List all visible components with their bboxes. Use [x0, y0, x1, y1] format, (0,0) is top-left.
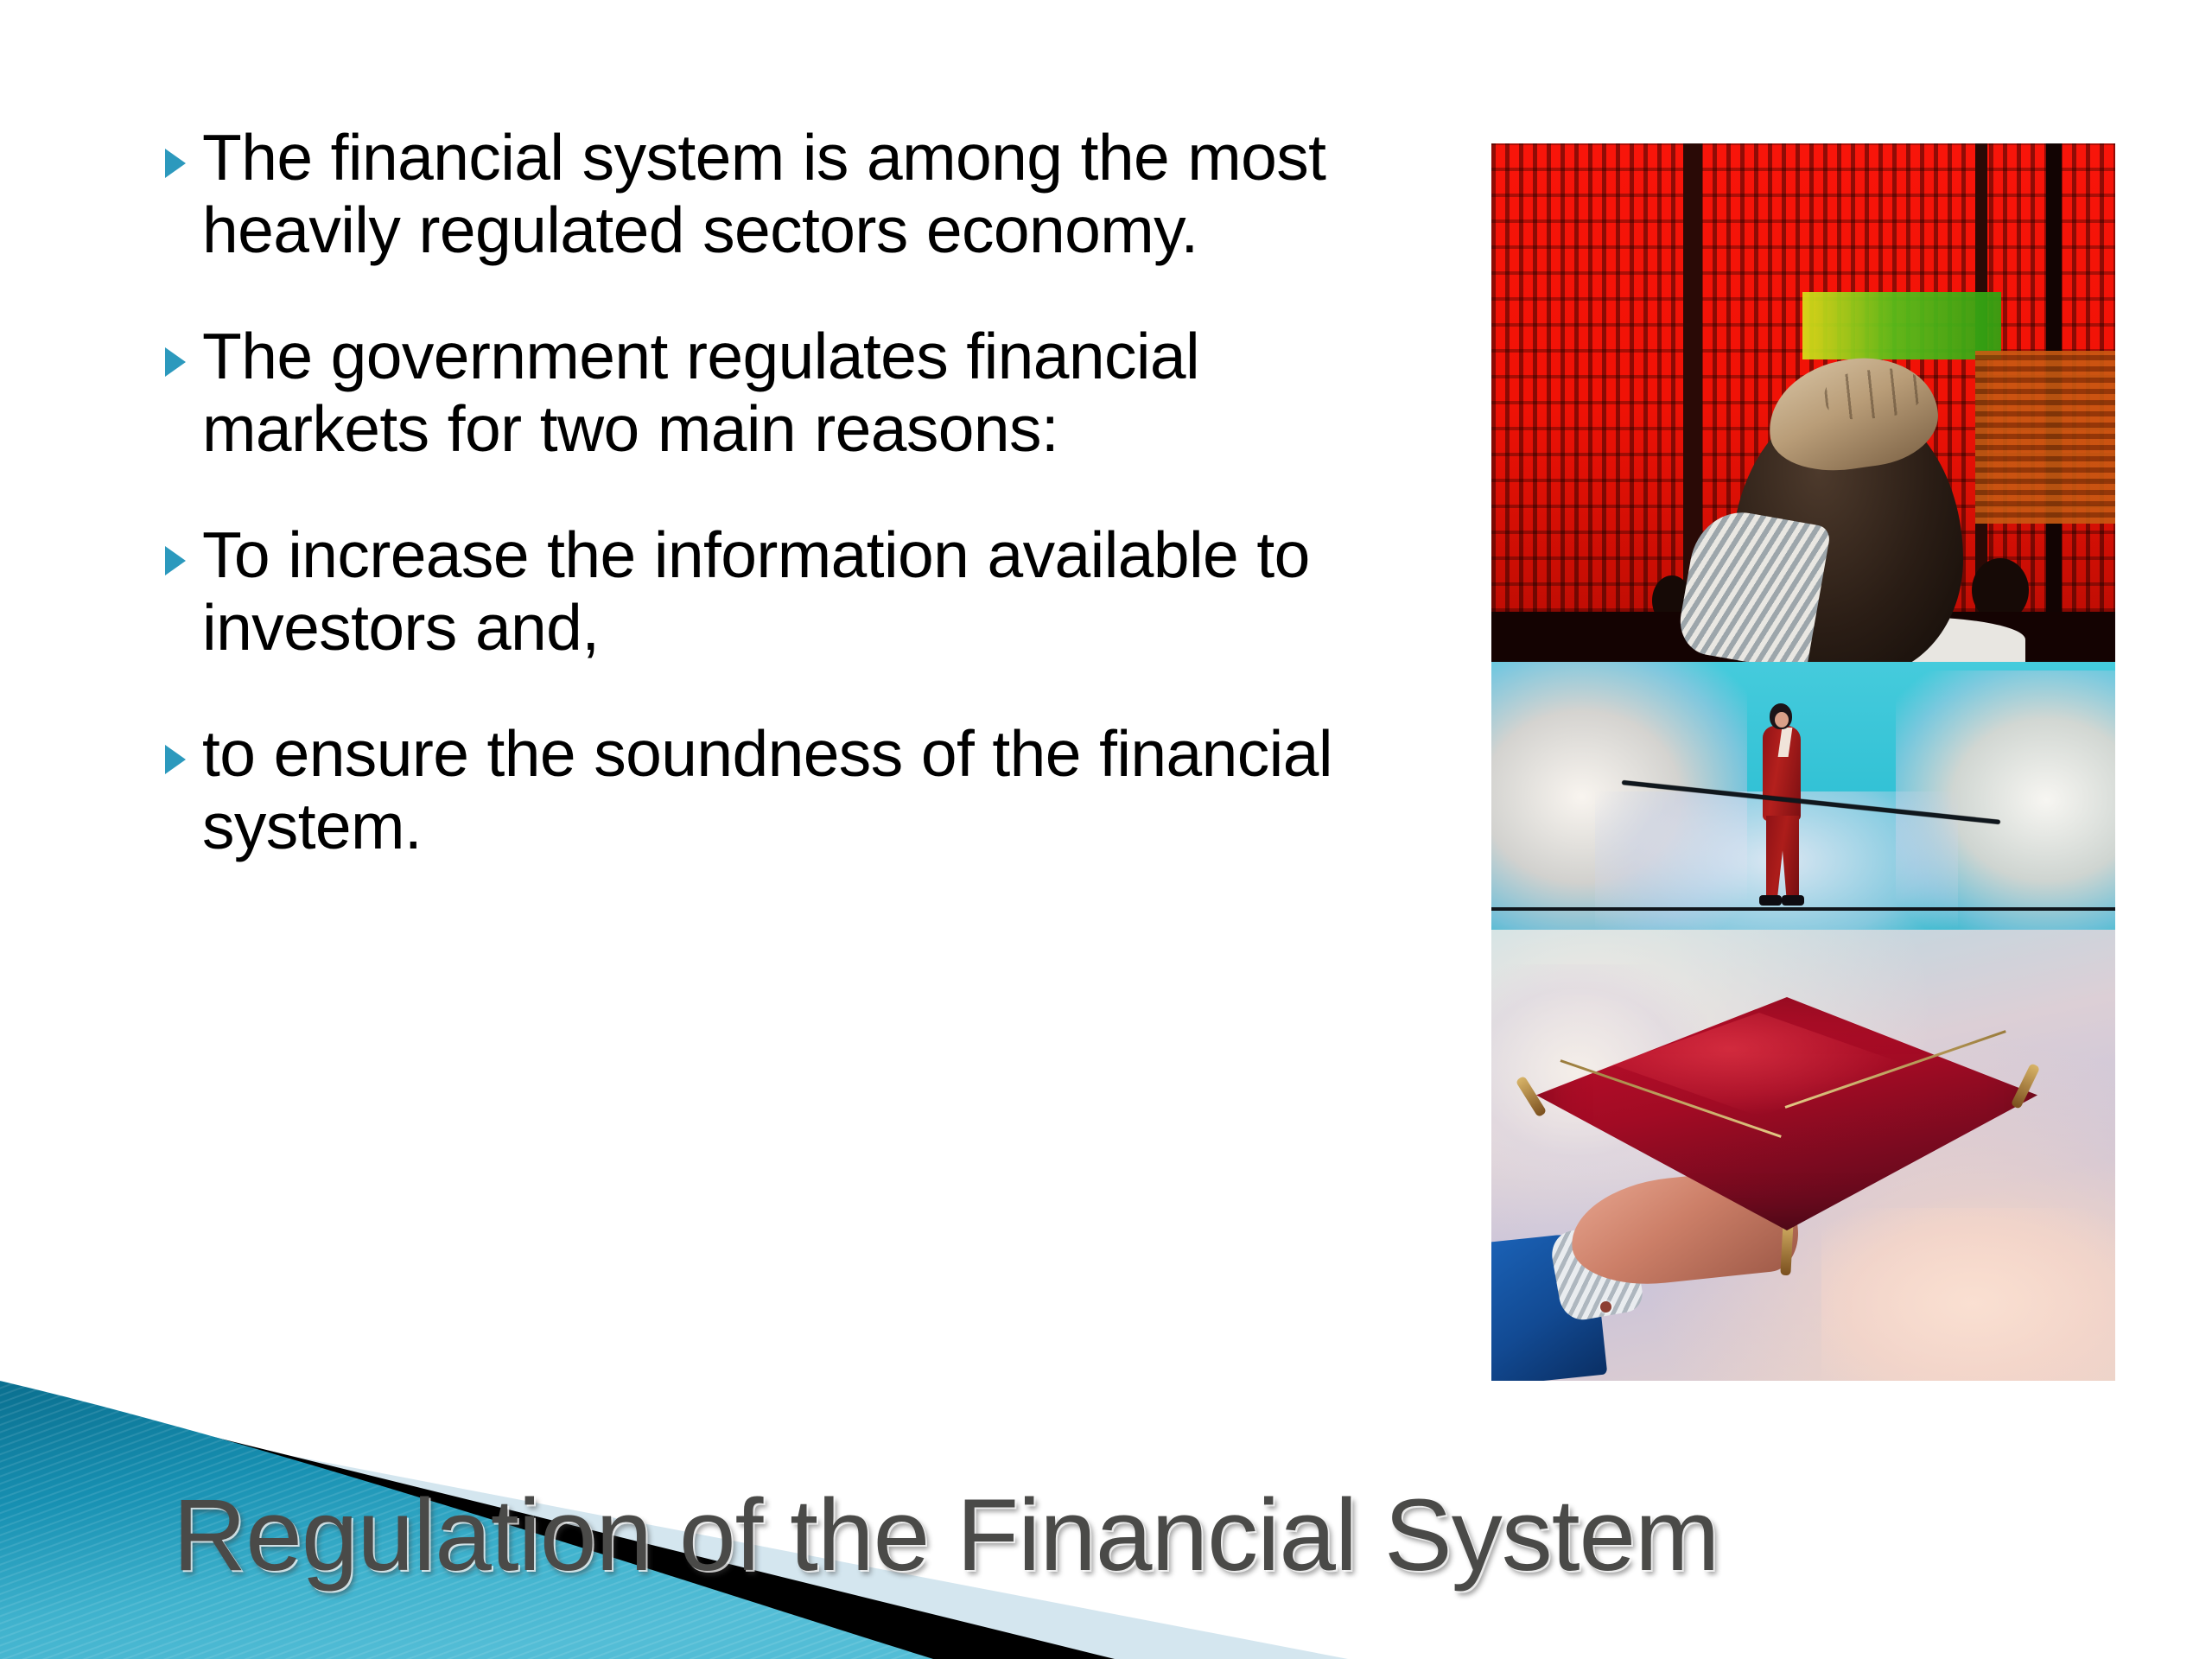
triangle-bullet-icon — [162, 121, 202, 180]
triangle-bullet-icon — [162, 717, 202, 776]
list-item: to ensure the soundness of the financial… — [162, 717, 1441, 862]
list-item-label: to ensure the soundness of the financial… — [202, 717, 1441, 862]
list-item-label: The government regulates financial marke… — [202, 320, 1441, 465]
image-stack — [1491, 143, 2115, 1381]
hand-holding-red-cushion-illustration — [1491, 930, 2115, 1381]
tightrope-walker-illustration — [1491, 662, 2115, 930]
list-item-label: The financial system is among the most h… — [202, 121, 1441, 266]
presentation-slide: The financial system is among the most h… — [0, 0, 2212, 1659]
stock-market-crash-trader-photo — [1491, 143, 2115, 662]
page-title: Regulation of the Financial System — [173, 1484, 1719, 1586]
triangle-bullet-icon — [162, 320, 202, 378]
triangle-bullet-icon — [162, 518, 202, 577]
list-item: The government regulates financial marke… — [162, 320, 1441, 465]
list-item: The financial system is among the most h… — [162, 121, 1441, 266]
list-item-label: To increase the information available to… — [202, 518, 1441, 664]
list-item: To increase the information available to… — [162, 518, 1441, 664]
bullet-list: The financial system is among the most h… — [162, 121, 1441, 862]
